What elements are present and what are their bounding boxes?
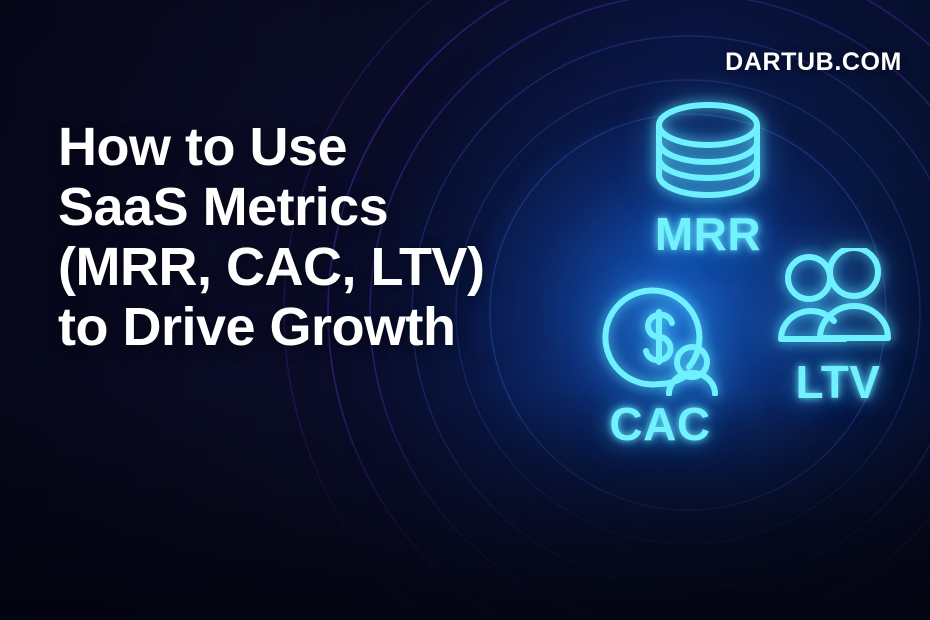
slide-canvas: DARTUB.COM How to Use SaaS Metrics (MRR,…	[0, 0, 930, 620]
metric-label-cac: CAC	[609, 401, 710, 447]
dollar-circle-person-icon	[596, 278, 724, 401]
metric-item-ltv: LTV	[748, 248, 928, 405]
metric-cluster: MRR CAC	[0, 0, 930, 620]
metric-item-mrr: MRR	[598, 98, 818, 257]
two-users-icon	[775, 248, 901, 357]
metric-label-mrr: MRR	[655, 211, 761, 257]
metric-item-cac: CAC	[560, 278, 760, 447]
database-cylinder-icon	[649, 98, 767, 207]
metric-label-ltv: LTV	[796, 359, 881, 405]
